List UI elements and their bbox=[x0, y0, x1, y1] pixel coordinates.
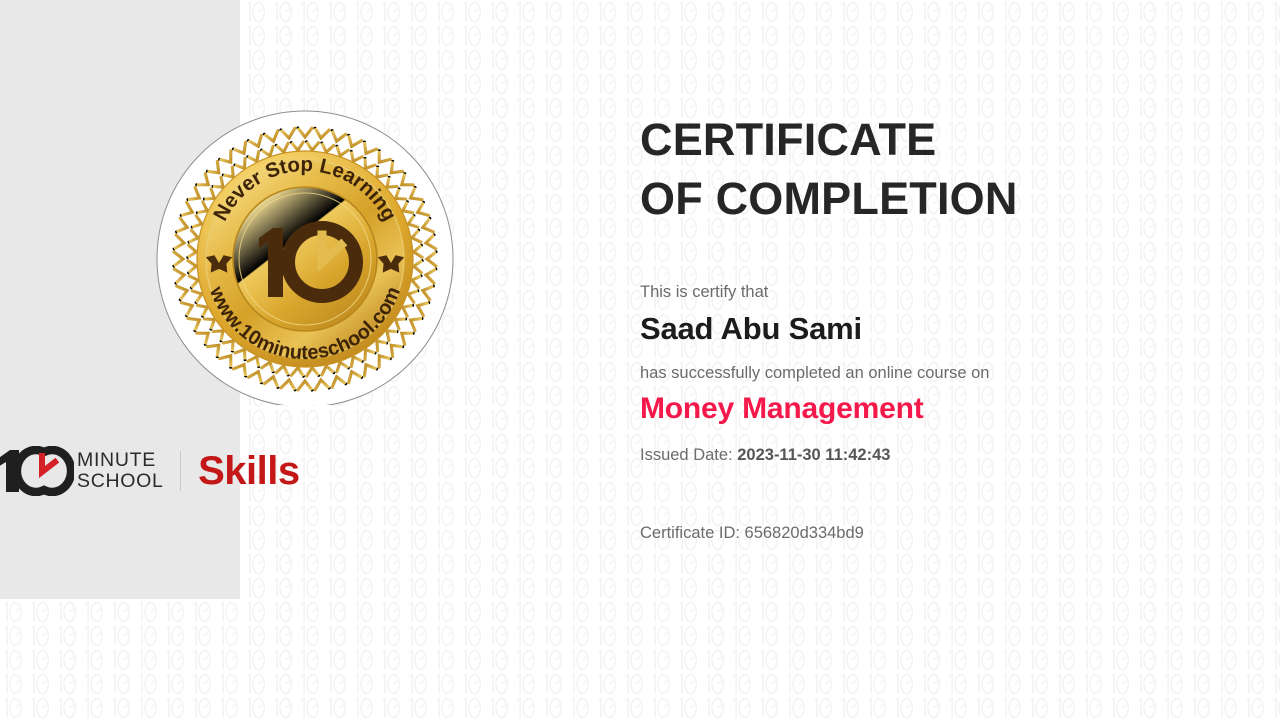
brand-logo-lockup: MINUTE SCHOOL Skills bbox=[0, 443, 300, 499]
brand-wordmark: MINUTE SCHOOL bbox=[77, 450, 164, 491]
intro-line: This is certify that bbox=[640, 283, 1220, 302]
recipient-name: Saad Abu Sami bbox=[640, 311, 1220, 347]
issued-date-value: 2023-11-30 11:42:43 bbox=[737, 446, 890, 464]
award-seal: Never Stop Learning www.10minuteschool.c… bbox=[155, 95, 455, 405]
brand-word-school: SCHOOL bbox=[77, 471, 164, 492]
ten-minute-school-mark-icon bbox=[0, 446, 74, 496]
brand-word-minute: MINUTE bbox=[77, 450, 164, 471]
completion-line: has successfully completed an online cou… bbox=[640, 364, 1220, 383]
certificate-title: CERTIFICATE OF COMPLETION bbox=[640, 110, 1220, 229]
brand-product-label: Skills bbox=[198, 451, 300, 491]
brand-divider bbox=[180, 451, 182, 491]
course-name: Money Management bbox=[640, 392, 1220, 426]
issued-date-label: Issued Date: bbox=[640, 446, 733, 464]
certificate-canvas: Never Stop Learning www.10minuteschool.c… bbox=[0, 0, 1280, 720]
certificate-id: Certificate ID: 656820d334bd9 bbox=[640, 524, 1220, 543]
issued-date-row: Issued Date: 2023-11-30 11:42:43 bbox=[640, 446, 1220, 465]
certificate-content: CERTIFICATE OF COMPLETION This is certif… bbox=[640, 110, 1220, 543]
